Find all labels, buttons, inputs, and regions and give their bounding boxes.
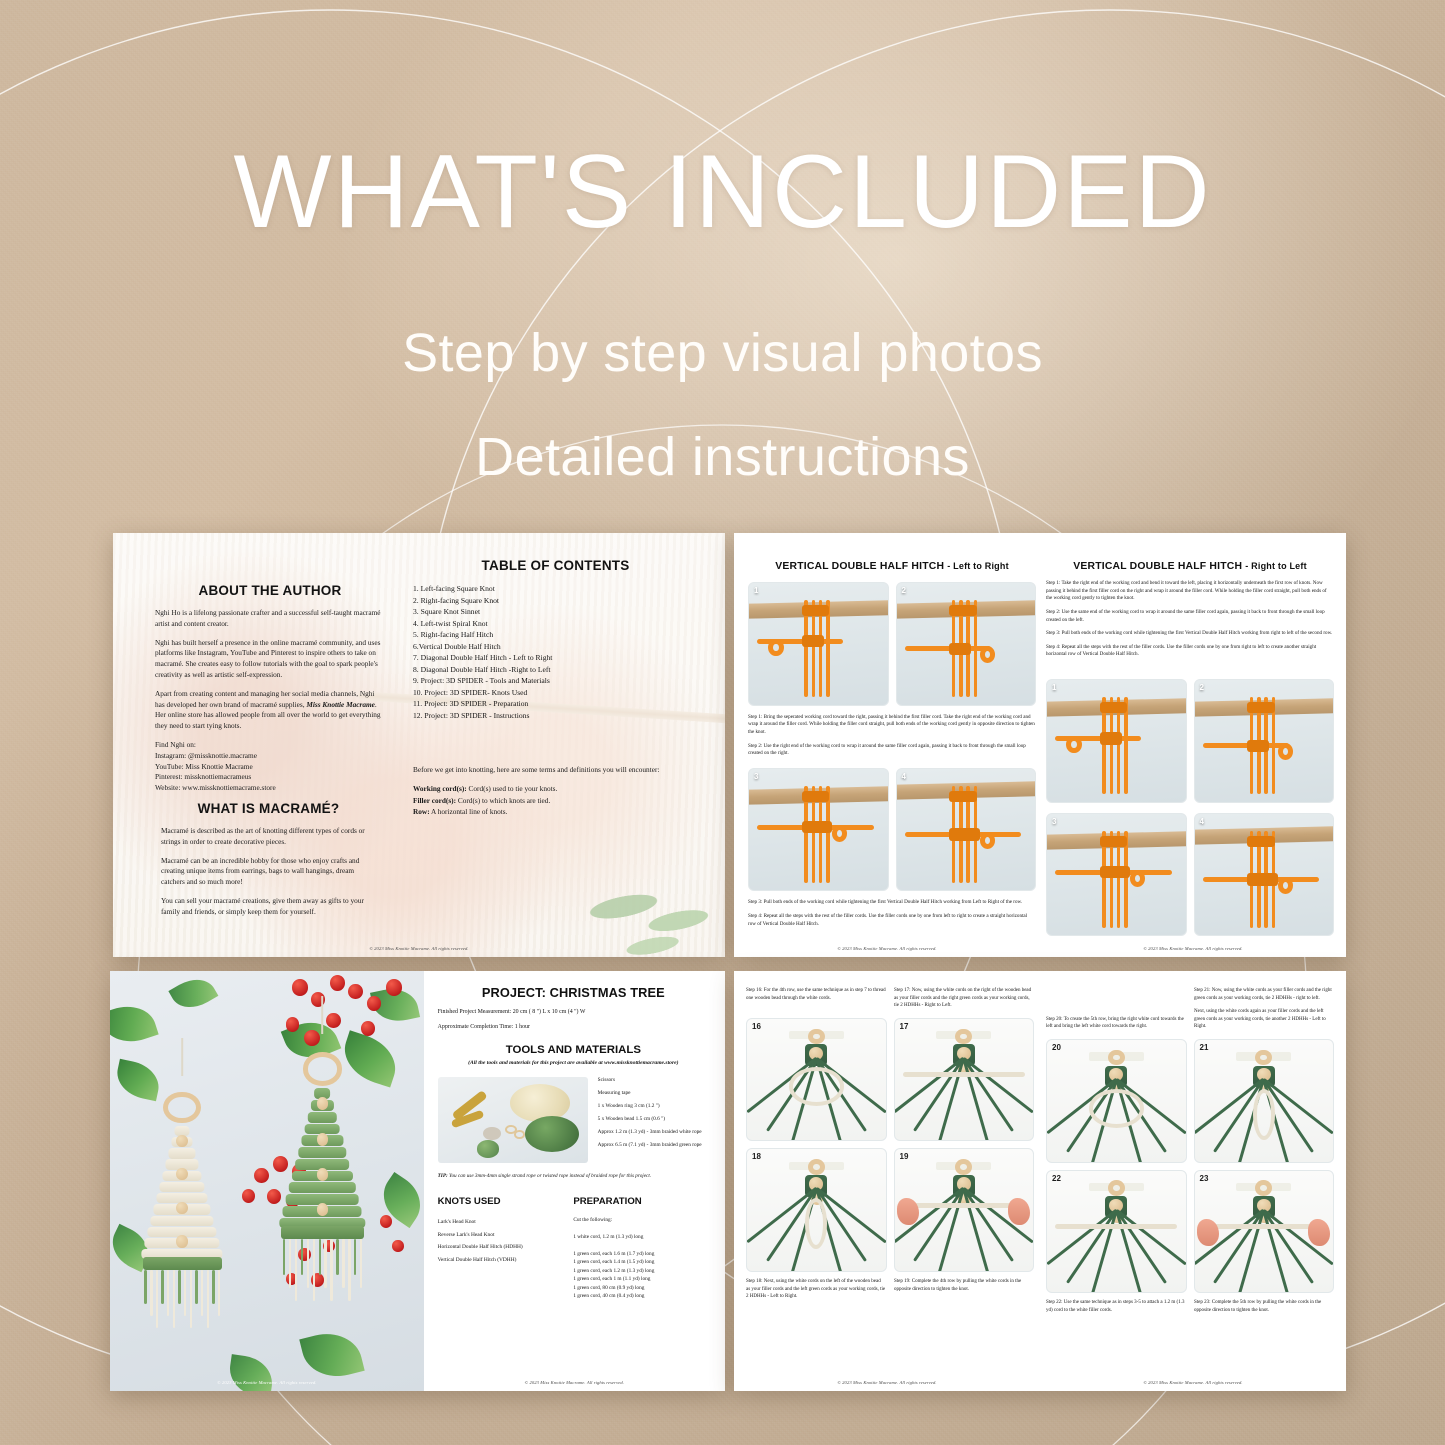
- macrame-heading: WHAT IS MACRAMÉ?: [161, 801, 376, 816]
- macrame-step-photo: 4: [896, 768, 1037, 892]
- header-block: WHAT'S INCLUDED Step by step visual phot…: [0, 0, 1445, 488]
- red-berry: [292, 979, 308, 995]
- def-working-text: Cord(s) used to tie your knots.: [467, 784, 558, 793]
- photo-number: 2: [902, 586, 906, 595]
- tools-row: ScissorsMeasuring tape1 x Wooden ring 3 …: [438, 1077, 709, 1163]
- step-23-text: Step 23: Complete the 5th row by pulling…: [1194, 1299, 1334, 1314]
- fringe-strand: [195, 1270, 197, 1304]
- green-cord: [1066, 1209, 1118, 1283]
- fringe-strand: [167, 1270, 169, 1316]
- hitch-knot-row: [802, 635, 824, 647]
- fringe-strand: [207, 1270, 209, 1328]
- wooden-ring-icon: [808, 1029, 825, 1045]
- toc-item[interactable]: 8. Diagonal Double Half Hitch -Right to …: [413, 664, 698, 676]
- cord-loop: [980, 832, 995, 849]
- cord-loop: [832, 825, 847, 842]
- pinterest-handle: Pinterest: missknottiemacrameus: [155, 772, 251, 781]
- christmas-tree-step-photo: 20: [1046, 1039, 1187, 1163]
- macrame-step-photo: 4: [1194, 813, 1335, 937]
- white-cord: [805, 1198, 827, 1249]
- def-row-text: A horizontal line of knots.: [430, 807, 508, 816]
- wooden-ring-icon: [1108, 1050, 1125, 1066]
- fringe-strand: [150, 1270, 152, 1316]
- hitch-knot-row: [802, 821, 832, 833]
- definition-working-cord: Working cord(s): Cord(s) used to tie you…: [413, 784, 685, 795]
- fringe-strand: [307, 1239, 309, 1288]
- fringe-strand: [156, 1270, 158, 1328]
- step-19-text: Step 19: Complete the 4th row by pulling…: [894, 1278, 1034, 1293]
- hand-icon: [1008, 1198, 1030, 1225]
- vdhh-right-step-3: Step 3: Pull both ends of the working co…: [1046, 630, 1334, 638]
- vdhh-left-to-right-column: VERTICAL DOUBLE HALF HITCH - Left to Rig…: [748, 561, 1036, 934]
- knot-row: [151, 1216, 214, 1226]
- vdhh-left-title-sub: - Left to Right: [947, 561, 1008, 571]
- header-subtitle-2: Detailed instructions: [0, 426, 1445, 488]
- definitions-block: Before we get into knotting, here are so…: [413, 765, 685, 826]
- photo-number: 19: [900, 1152, 909, 1161]
- hitch-knot-row: [1100, 732, 1122, 744]
- toc-item[interactable]: 7. Diagonal Double Half Hitch - Left to …: [413, 652, 698, 664]
- toc-item[interactable]: 12. Project: 3D SPIDER - Instructions: [413, 710, 698, 722]
- vdhh-left-step-2: Step 2: Use the right end of the working…: [748, 743, 1036, 758]
- macrame-paragraph-1: Macramé is described as the art of knott…: [161, 826, 376, 848]
- fringe-strand: [289, 1239, 291, 1288]
- page-title: WHAT'S INCLUDED: [0, 140, 1445, 244]
- red-berry: [386, 979, 402, 995]
- knot-band: [1100, 702, 1128, 713]
- cord-loop: [768, 639, 783, 656]
- photo-number: 22: [1052, 1174, 1061, 1183]
- photo-number: 21: [1200, 1043, 1209, 1052]
- macrame-paragraph-2: Macramé can be an incredible hobby for t…: [161, 856, 376, 888]
- fringe-strand: [330, 1239, 332, 1300]
- vdhh-left-title: VERTICAL DOUBLE HALF HITCH - Left to Rig…: [748, 561, 1036, 572]
- macrame-step-photo: 3: [748, 768, 889, 892]
- green-cord: [1214, 1209, 1266, 1283]
- photo-number: 1: [1052, 683, 1056, 692]
- hand-icon: [1308, 1219, 1330, 1246]
- page-footer-photo: © 2023 Miss Knottie Macrame. All rights …: [110, 1380, 424, 1385]
- prep-green-item: 1 green cord, each 1.4 m (1.5 yd) long: [573, 1258, 709, 1267]
- page-vertical-double-half-hitch[interactable]: VERTICAL DOUBLE HALF HITCH - Left to Rig…: [734, 533, 1346, 957]
- christmas-tree-step-photo: 23: [1194, 1170, 1335, 1294]
- knot-band: [1100, 836, 1128, 847]
- find-label: Find Nghi on:: [155, 740, 196, 749]
- christmas-tree-step-photo: 16: [746, 1018, 887, 1142]
- red-berry: [380, 1215, 393, 1228]
- hitch-knot-row: [1247, 740, 1269, 752]
- fringe-strand: [201, 1270, 203, 1316]
- toc-item[interactable]: 10. Project: 3D SPIDER- Knots Used: [413, 687, 698, 699]
- working-cord: [905, 646, 991, 651]
- fringe-strand: [178, 1270, 180, 1304]
- macrame-christmas-tree: [273, 996, 372, 1252]
- project-time: Approximate Completion Time: 1 hour: [438, 1024, 709, 1030]
- brand-name: Miss Knottie Macrame: [306, 700, 375, 709]
- photo-number: 2: [1200, 683, 1204, 692]
- header-subtitle-1: Step by step visual photos: [0, 322, 1445, 384]
- page-footer-right: © 2023 Miss Knottie Macrame. All rights …: [1040, 946, 1346, 951]
- page-footer: © 2023 Miss Knottie Macrame. All rights …: [113, 946, 725, 951]
- wooden-ring: [163, 1092, 201, 1124]
- knot-item: Vertical Double Half Hitch (VDHH): [438, 1254, 574, 1266]
- fringe-strand: [295, 1239, 297, 1300]
- christmas-tree-photo: [110, 971, 424, 1391]
- prep-green-item: 1 green cord, 40 cm (0.4 yd) long: [573, 1292, 709, 1301]
- tools-photo: [438, 1077, 588, 1163]
- macrame-step-photo: 3: [1046, 813, 1187, 937]
- white-cord: [1089, 1089, 1144, 1128]
- page-footer-left: © 2023 Miss Knottie Macrame. All rights …: [734, 1380, 1040, 1385]
- photo-number: 4: [902, 772, 906, 781]
- photo-number: 17: [900, 1022, 909, 1031]
- step-17-text: Step 17: Now, using the white cords on t…: [894, 987, 1034, 1010]
- def-filler-label: Filler cord(s):: [413, 796, 456, 805]
- material-item: 1 x Wooden ring 3 cm (1.2 "): [598, 1103, 702, 1111]
- prep-green-item: 1 green cord, each 1 m (1.1 yd) long: [573, 1275, 709, 1284]
- green-cord: [1238, 1209, 1265, 1293]
- tip-text: You can use 3mm-4mm single strand rope o…: [448, 1173, 651, 1179]
- christmas-tree-step-photo: 19: [894, 1148, 1035, 1272]
- step-20-text: Step 20: To create the 5th row, bring th…: [1046, 1016, 1186, 1031]
- knot-row: [308, 1112, 336, 1123]
- fringe-strand: [212, 1270, 214, 1304]
- knot-band: [1247, 702, 1275, 713]
- cord-loop: [1130, 870, 1145, 887]
- knot-row: [289, 1182, 355, 1193]
- definition-row: Row: A horizontal line of knots.: [413, 807, 685, 818]
- toc-list: 1. Left-facing Square Knot2. Right-facin…: [413, 583, 698, 721]
- wooden-bead: [176, 1202, 187, 1214]
- toc-item[interactable]: 3. Square Knot Sinnet: [413, 606, 698, 618]
- knot-band: [1247, 836, 1275, 847]
- vdhh-left-step-4: Step 4: Repeat all the steps with the re…: [748, 913, 1036, 928]
- prep-green-cords: 1 green cord, each 1.6 m (1.7 yd) long1 …: [573, 1250, 709, 1301]
- photo-number: 23: [1200, 1174, 1209, 1183]
- photo-number: 20: [1052, 1043, 1061, 1052]
- fringe-strand: [342, 1239, 344, 1288]
- macrame-step-photo: 1: [748, 582, 889, 706]
- toc-item[interactable]: 1. Left-facing Square Knot: [413, 583, 698, 595]
- wooden-ring-icon: [1108, 1180, 1125, 1196]
- steps-photo-grid-left: 16171819: [746, 1018, 1034, 1272]
- hanging-string: [322, 996, 324, 1034]
- about-paragraph-1: Nghi Ho is a lifelong passionate crafter…: [155, 608, 385, 630]
- fringe-strand: [161, 1270, 163, 1304]
- vdhh-right-title-sub: - Right to Left: [1245, 561, 1306, 571]
- macrame-paragraph-3: You can sell your macramé creations, giv…: [161, 896, 376, 918]
- youtube-handle: YouTube: Miss Knottie Macrame: [155, 762, 253, 771]
- knot-row: [169, 1148, 196, 1158]
- macrame-christmas-tree: [135, 1038, 229, 1282]
- wooden-ring-icon: [808, 1159, 825, 1175]
- fringe-strand: [336, 1239, 338, 1275]
- material-item: Approx 1.2 m (1.3 yd) - 3mm braided whit…: [598, 1129, 702, 1137]
- green-cord: [914, 1057, 966, 1131]
- material-item: Scissors: [598, 1077, 702, 1085]
- materials-list: ScissorsMeasuring tape1 x Wooden ring 3 …: [598, 1077, 702, 1163]
- vdhh-right-photo-grid-top: 12: [1046, 679, 1334, 803]
- christmas-tree-step-photo: 18: [746, 1148, 887, 1272]
- step-21-text-b: Next, using the white cords again as you…: [1194, 1008, 1334, 1031]
- white-cord: [1203, 1224, 1325, 1229]
- page-steps-16-23[interactable]: Step 16: For the 4th row, use the same t…: [734, 971, 1346, 1391]
- red-berry: [330, 975, 345, 991]
- vdhh-right-to-left-column: VERTICAL DOUBLE HALF HITCH - Right to Le…: [1046, 561, 1334, 944]
- working-cord: [1203, 743, 1289, 748]
- preparation-heading: PREPARATION: [573, 1196, 709, 1207]
- step-18-text: Step 18: Next, using the white cords on …: [746, 1278, 886, 1301]
- what-is-macrame-column: WHAT IS MACRAMÉ? Macramé is described as…: [161, 801, 376, 926]
- photo-number: 3: [1052, 817, 1056, 826]
- red-berry: [254, 1168, 268, 1183]
- vdhh-left-photo-grid-top: 12: [748, 582, 1036, 706]
- fringe-strand: [184, 1270, 186, 1316]
- green-cord: [914, 1187, 966, 1261]
- fringe-strand: [190, 1270, 192, 1328]
- page-footer-right: © 2023 Miss Knottie Macrame. All rights …: [1040, 1380, 1346, 1385]
- white-cord: [1253, 1089, 1275, 1140]
- holly-leaf: [227, 1355, 276, 1391]
- fringe-strand: [283, 1239, 285, 1275]
- red-berry: [392, 1240, 403, 1252]
- hitch-knot-row: [1247, 873, 1277, 885]
- about-paragraph-3: Apart from creating content and managing…: [155, 689, 385, 732]
- macrame-step-photo: 1: [1046, 679, 1187, 803]
- toc-item[interactable]: 6.Vertical Double Half Hitch: [413, 641, 698, 653]
- photo-number: 18: [752, 1152, 761, 1161]
- instagram-handle: Instagram: @missknottie.macrame: [155, 751, 257, 760]
- vdhh-right-title-main: VERTICAL DOUBLE HALF HITCH: [1073, 561, 1242, 572]
- page-footer: © 2023 Miss Knottie Macrame. All rights …: [424, 1380, 725, 1385]
- green-cord: [1091, 1209, 1118, 1293]
- vdhh-left-step-1: Step 1: Bring the seperated working cord…: [748, 714, 1036, 737]
- fringe-strand: [319, 1239, 321, 1275]
- knot-row: [299, 1147, 346, 1158]
- steps-22-23-captions: Step 22: Use the same technique as in st…: [1046, 1299, 1334, 1314]
- knots-list: Lark's Head KnotReverse Lark's Head Knot…: [438, 1216, 574, 1266]
- fringe-strand: [354, 1239, 356, 1275]
- wooden-ring-icon: [955, 1029, 972, 1045]
- knots-heading: KNOTS USED: [438, 1196, 574, 1207]
- prep-white-cord: 1 white cord, 1.2 m (1.3 yd) long: [573, 1233, 709, 1242]
- project-measurement: Finished Project Measurement: 20 cm ( 8 …: [438, 1009, 709, 1015]
- fringe-strand: [144, 1270, 146, 1304]
- cord-loop: [980, 646, 995, 663]
- def-filler-text: Cord(s) to which knots are tied.: [456, 796, 550, 805]
- hitch-knot-row: [1100, 866, 1130, 878]
- toc-item[interactable]: 2. Right-facing Square Knot: [413, 595, 698, 607]
- wooden-bead: [176, 1135, 187, 1147]
- project-text-column: PROJECT: CHRISTMAS TREE Finished Project…: [424, 971, 725, 1391]
- knot-band: [802, 605, 830, 616]
- hand-icon: [1197, 1219, 1219, 1246]
- wooden-ring-icon: [1255, 1050, 1272, 1066]
- holly-leaf: [168, 971, 218, 1017]
- tools-heading: TOOLS AND MATERIALS: [438, 1044, 709, 1056]
- knots-preparation-row: KNOTS USED Lark's Head KnotReverse Lark'…: [438, 1196, 709, 1301]
- vdhh-right-step-1: Step 1: Take the right end of the workin…: [1046, 580, 1334, 603]
- green-cord: [963, 1056, 1034, 1113]
- cord-loop: [1278, 743, 1293, 760]
- christmas-tree-step-photo: 17: [894, 1018, 1035, 1142]
- tree-base-row: [281, 1226, 364, 1239]
- page-footer-left: © 2023 Miss Knottie Macrame. All rights …: [734, 946, 1040, 951]
- definitions-intro: Before we get into knotting, here are so…: [413, 765, 685, 776]
- knot-item: Reverse Lark's Head Knot: [438, 1229, 574, 1241]
- knot-band: [802, 791, 830, 802]
- prep-green-item: 1 green cord, 80 cm (0.9 yd) long: [573, 1284, 709, 1293]
- white-cord: [903, 1072, 1025, 1077]
- holly-leaf: [300, 1326, 366, 1384]
- step-22-text: Step 22: Use the same technique as in st…: [1046, 1299, 1186, 1314]
- tree-base-row: [143, 1257, 222, 1269]
- photo-number: 16: [752, 1022, 761, 1031]
- vdhh-left-photo-grid-bottom: 34: [748, 768, 1036, 892]
- tools-note: (All the tools and materials for this pr…: [438, 1060, 709, 1068]
- fringe-strand: [313, 1239, 315, 1300]
- wooden-bead: [317, 1168, 329, 1181]
- step-16-text: Step 16: For the 4th row, use the same t…: [746, 987, 886, 1002]
- cord-loop: [1278, 877, 1293, 894]
- prep-green-item: 1 green cord, each 1.6 m (1.7 yd) long: [573, 1250, 709, 1259]
- steps-left-column: Step 16: For the 4th row, use the same t…: [746, 987, 1034, 1301]
- page-project-christmas-tree[interactable]: PROJECT: CHRISTMAS TREE Finished Project…: [110, 971, 725, 1391]
- knot-band: [949, 605, 977, 616]
- hanging-string: [181, 1038, 183, 1076]
- steps-18-19-captions: Step 18: Next, using the white cords on …: [746, 1278, 1034, 1301]
- toc-item[interactable]: 11. Project: 3D SPIDER - Preparation: [413, 698, 698, 710]
- knot-item: Horizontal Double Half Hitch (HDHH): [438, 1241, 574, 1253]
- toc-column: TABLE OF CONTENTS 1. Left-facing Square …: [413, 558, 698, 721]
- cord-loop: [1066, 736, 1081, 753]
- green-cord: [938, 1057, 965, 1141]
- green-cord: [1115, 1208, 1186, 1265]
- toc-item[interactable]: 4. Left-twist Spiral Knot: [413, 618, 698, 630]
- white-cord: [903, 1203, 1025, 1208]
- vdhh-left-title-main: VERTICAL DOUBLE HALF HITCH: [775, 561, 944, 572]
- steps-16-17-captions: Step 16: For the 4th row, use the same t…: [746, 987, 1034, 1010]
- green-cord: [963, 1187, 1015, 1261]
- vdhh-left-step-3: Step 3: Pull both ends of the working co…: [748, 899, 1036, 907]
- knot-item: Lark's Head Knot: [438, 1216, 574, 1228]
- wooden-ring-icon: [1255, 1180, 1272, 1196]
- macrame-step-photo: 2: [1194, 679, 1335, 803]
- vdhh-right-step-2: Step 2: Use the same end of the working …: [1046, 609, 1334, 624]
- steps-right-column: Step 20: To create the 5th row, bring th…: [1046, 987, 1334, 1314]
- about-heading: ABOUT THE AUTHOR: [155, 583, 385, 598]
- white-cord: [1055, 1224, 1177, 1229]
- prep-green-item: 1 green cord, each 1.2 m (1.3 yd) long: [573, 1267, 709, 1276]
- knots-used-block: KNOTS USED Lark's Head KnotReverse Lark'…: [438, 1196, 574, 1301]
- project-tip: TIP: You can use 3mm-4mm single strand r…: [438, 1173, 709, 1181]
- find-block: Find Nghi on: Instagram: @missknottie.ma…: [155, 740, 385, 794]
- material-item: Measuring tape: [598, 1090, 702, 1098]
- about-column: ABOUT THE AUTHOR Nghi Ho is a lifelong p…: [155, 583, 385, 802]
- toc-item[interactable]: 5. Right-facing Half Hitch: [413, 629, 698, 641]
- material-item: Approx 6.5 m (7.1 yd) - 3mm braided gree…: [598, 1142, 702, 1150]
- photo-number: 3: [754, 772, 758, 781]
- fringe-strand: [324, 1239, 326, 1288]
- project-title: PROJECT: CHRISTMAS TREE: [438, 985, 709, 1000]
- about-paragraph-2: Nghi has built herself a presence in the…: [155, 638, 385, 681]
- wooden-ring-icon: [955, 1159, 972, 1175]
- tip-label: TIP:: [438, 1173, 448, 1179]
- knot-row: [160, 1182, 205, 1192]
- toc-heading: TABLE OF CONTENTS: [413, 558, 698, 573]
- vdhh-right-step-4: Step 4: Repeat all the steps with the re…: [1046, 644, 1334, 659]
- definition-filler-cord: Filler cord(s): Cord(s) to which knots a…: [413, 796, 685, 807]
- fringe-strand: [218, 1270, 220, 1316]
- vdhh-right-title: VERTICAL DOUBLE HALF HITCH - Right to Le…: [1046, 561, 1334, 572]
- step-21-text-a: Step 21: Now, using the white cords as y…: [1194, 987, 1334, 1002]
- photo-number: 4: [1200, 817, 1204, 826]
- material-item: 5 x Wooden bead 1.5 cm (0.6 "): [598, 1116, 702, 1124]
- hitch-knot-row: [949, 643, 971, 655]
- def-working-label: Working cord(s):: [413, 784, 467, 793]
- page-about-author[interactable]: ABOUT THE AUTHOR Nghi Ho is a lifelong p…: [113, 533, 725, 957]
- macrame-step-photo: 2: [896, 582, 1037, 706]
- def-row-label: Row:: [413, 807, 430, 816]
- vdhh-right-photo-grid-bottom: 34: [1046, 813, 1334, 937]
- fringe-strand: [173, 1270, 175, 1328]
- wooden-ring: [303, 1052, 343, 1085]
- wooden-bead: [317, 1133, 329, 1146]
- website-url: Website: www.missknottiemacrame.store: [155, 783, 276, 792]
- fringe-strand: [360, 1239, 362, 1288]
- wooden-bead: [176, 1235, 187, 1247]
- red-berry: [242, 1189, 255, 1203]
- steps-20-21-captions: Step 20: To create the 5th row, bring th…: [1046, 987, 1334, 1031]
- photo-number: 1: [754, 586, 758, 595]
- christmas-tree-step-photo: 21: [1194, 1039, 1335, 1163]
- white-cord: [789, 1067, 844, 1106]
- christmas-tree-step-photo: 22: [1046, 1170, 1187, 1294]
- prep-intro: Cut the following:: [573, 1216, 709, 1225]
- fringe-strand: [348, 1239, 350, 1300]
- preparation-block: PREPARATION Cut the following: 1 white c…: [573, 1196, 709, 1301]
- steps-photo-grid-right: 20212223: [1046, 1039, 1334, 1293]
- fringe-strand: [301, 1239, 303, 1275]
- knot-band: [949, 791, 977, 802]
- toc-item[interactable]: 9. Project: 3D SPIDER - Tools and Materi…: [413, 675, 698, 687]
- hitch-knot-row: [949, 828, 979, 840]
